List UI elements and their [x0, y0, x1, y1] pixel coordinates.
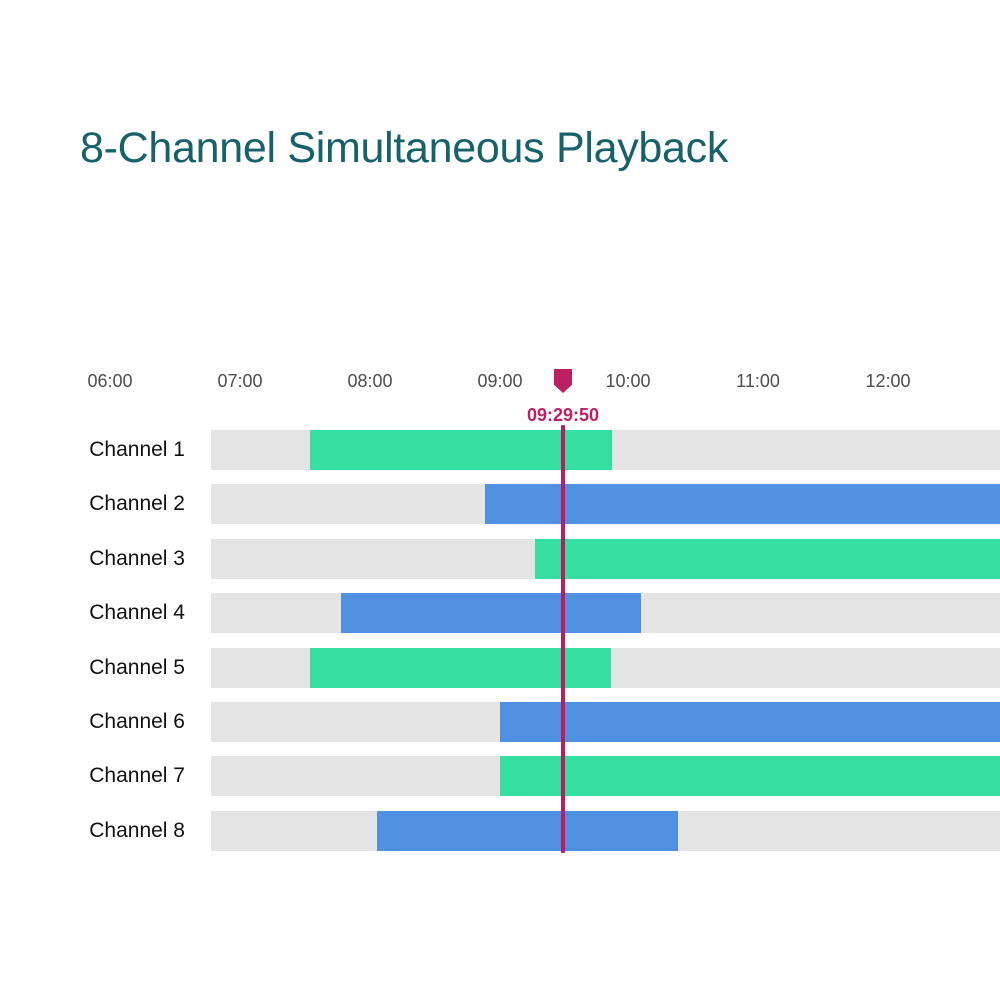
recording-segment[interactable]	[310, 430, 612, 470]
recording-segment[interactable]	[377, 811, 678, 851]
channel-row-label: Channel 8	[89, 819, 185, 843]
channel-row-label: Channel 2	[89, 492, 185, 516]
channel-row[interactable]: Channel 5	[0, 648, 1000, 688]
channel-row[interactable]: Channel 1	[0, 430, 1000, 470]
channel-row[interactable]: Channel 3	[0, 539, 1000, 579]
channel-row[interactable]: Channel 7	[0, 756, 1000, 796]
channel-row[interactable]: Channel 2	[0, 484, 1000, 524]
channel-row-label: Channel 6	[89, 710, 185, 734]
channel-row-label: Channel 7	[89, 764, 185, 788]
recording-segment[interactable]	[500, 756, 1000, 796]
channel-row-label: Channel 5	[89, 656, 185, 680]
recording-segment[interactable]	[310, 648, 611, 688]
channel-row[interactable]: Channel 6	[0, 702, 1000, 742]
channel-row-label: Channel 3	[89, 547, 185, 571]
recording-segment[interactable]	[341, 593, 641, 633]
channel-row-label: Channel 4	[89, 601, 185, 625]
channel-row[interactable]: Channel 8	[0, 811, 1000, 851]
playhead-time-label: 09:29:50	[527, 405, 599, 426]
channel-row-label: Channel 1	[89, 438, 185, 462]
playback-timeline-page: 8-Channel Simultaneous Playback 06:0007:…	[0, 0, 1000, 1000]
recording-segment[interactable]	[500, 702, 1000, 742]
playhead-line[interactable]	[561, 425, 565, 853]
recording-segment[interactable]	[535, 539, 1000, 579]
channel-track-list: Channel 1Channel 2Channel 3Channel 4Chan…	[0, 0, 1000, 1000]
channel-row[interactable]: Channel 4	[0, 593, 1000, 633]
